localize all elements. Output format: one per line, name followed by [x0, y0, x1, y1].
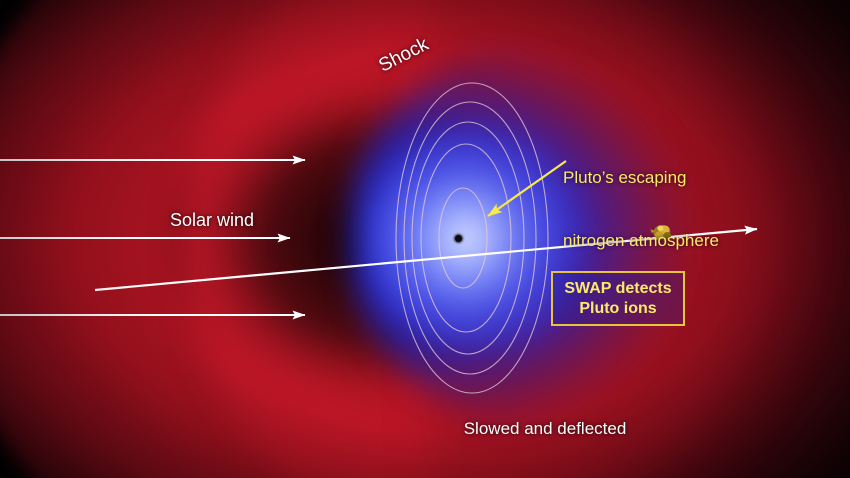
swap-detection-callout-box: SWAP detects Pluto ions — [551, 271, 685, 326]
slowed-deflected-wind-label: Slowed and deflected solar wind — [450, 378, 640, 478]
swap-callout-line-2: Pluto ions — [579, 299, 656, 319]
escaping-atmosphere-line-1: Pluto’s escaping — [563, 168, 719, 189]
atmosphere-contour-3 — [412, 122, 524, 354]
atmosphere-contour-5 — [396, 83, 548, 393]
solar-wind-arrows — [0, 160, 305, 315]
pluto-planet-dot — [455, 235, 462, 242]
slowed-wind-line-1: Slowed and deflected — [450, 419, 640, 440]
diagram-vector-overlay — [0, 0, 850, 478]
escaping-atmosphere-line-2: nitrogen atmosphere — [563, 231, 719, 252]
solar-wind-label: Solar wind — [170, 210, 254, 232]
atmosphere-contour-2 — [421, 144, 511, 332]
atmosphere-contours — [396, 83, 548, 393]
escaping-atmosphere-label: Pluto’s escaping nitrogen atmosphere — [563, 127, 719, 293]
swap-callout-line-1: SWAP detects — [564, 279, 671, 299]
atmosphere-contour-1 — [439, 188, 487, 288]
atmosphere-contour-4 — [404, 102, 536, 374]
pluto-solar-wind-diagram: Shock Solar wind Pluto’s escaping nitrog… — [0, 0, 850, 478]
